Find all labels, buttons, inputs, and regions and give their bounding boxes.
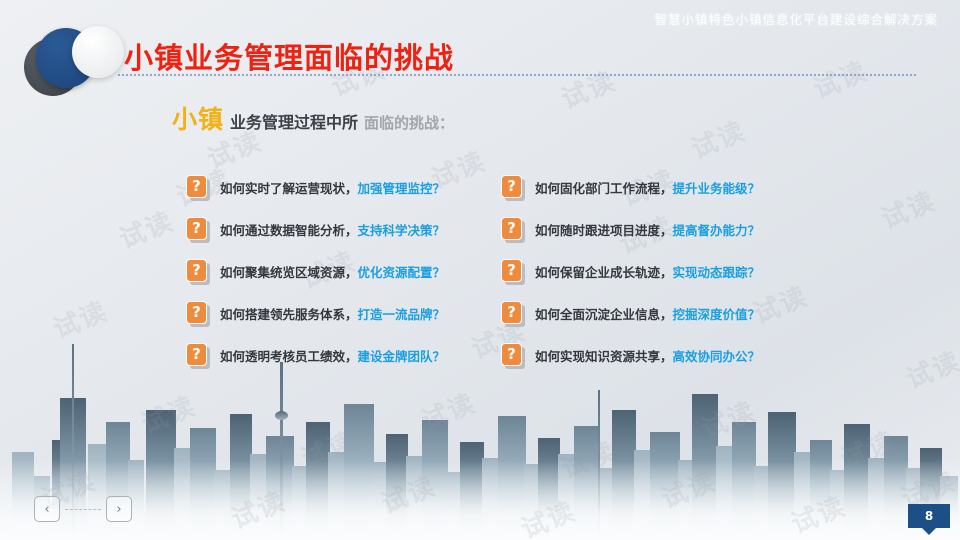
challenge-text: 如何实时了解运营现状，加强管理监控？ bbox=[220, 178, 445, 197]
question-icon-glyph: ? bbox=[186, 259, 207, 282]
subtitle-strong: 业务管理过程中所 bbox=[230, 109, 358, 133]
question-mark-icon: ? bbox=[501, 175, 523, 199]
challenge-text: 如何通过数据智能分析，支持科学决策？ bbox=[220, 220, 445, 239]
challenge-lead: 如何通过数据智能分析， bbox=[220, 223, 358, 238]
question-icon-glyph: ? bbox=[501, 259, 522, 282]
nav-connector bbox=[65, 509, 101, 510]
prev-slide-button[interactable]: ‹ bbox=[34, 496, 60, 522]
challenge-lead: 如何搭建领先服务体系， bbox=[220, 307, 358, 322]
challenge-highlight: 打造一流品牌？ bbox=[358, 307, 446, 322]
slide-navigation: ‹ › bbox=[34, 496, 132, 522]
challenge-highlight: 实现动态跟踪？ bbox=[673, 265, 761, 280]
challenge-text: 如何搭建领先服务体系，打造一流品牌？ bbox=[220, 304, 445, 323]
question-mark-icon: ? bbox=[186, 343, 208, 367]
logo-circle-white bbox=[72, 26, 124, 78]
challenge-lead: 如何固化部门工作流程， bbox=[535, 181, 673, 196]
challenge-lead: 如何实时了解运营现状， bbox=[220, 181, 358, 196]
challenge-highlight: 提高督办能力？ bbox=[673, 223, 761, 238]
challenge-item: ?如何固化部门工作流程，提升业务能级？ bbox=[501, 166, 806, 208]
challenge-lead: 如何随时跟进项目进度， bbox=[535, 223, 673, 238]
question-icon-glyph: ? bbox=[186, 343, 207, 366]
question-icon-glyph: ? bbox=[501, 343, 522, 366]
question-mark-icon: ? bbox=[186, 175, 208, 199]
page-number-badge: 8 bbox=[908, 504, 950, 528]
challenge-item: ?如何通过数据智能分析，支持科学决策？ bbox=[186, 208, 491, 250]
question-mark-icon: ? bbox=[501, 217, 523, 241]
challenge-highlight: 支持科学决策？ bbox=[358, 223, 446, 238]
challenge-text: 如何全面沉淀企业信息，挖掘深度价值？ bbox=[535, 304, 760, 323]
question-icon-glyph: ? bbox=[186, 217, 207, 240]
page-title: 小镇业务管理面临的挑战 bbox=[124, 35, 454, 77]
question-icon-glyph: ? bbox=[501, 217, 522, 240]
challenge-list: ?如何实时了解运营现状，加强管理监控？?如何固化部门工作流程，提升业务能级？?如… bbox=[186, 166, 806, 376]
question-icon-glyph: ? bbox=[501, 301, 522, 324]
challenge-text: 如何实现知识资源共享，高效协同办公？ bbox=[535, 346, 760, 365]
watermark-text: 试读 bbox=[555, 61, 621, 116]
next-slide-button[interactable]: › bbox=[106, 496, 132, 522]
challenge-lead: 如何全面沉淀企业信息， bbox=[535, 307, 673, 322]
challenge-lead: 如何实现知识资源共享， bbox=[535, 349, 673, 364]
challenge-item: ?如何实现知识资源共享，高效协同办公？ bbox=[501, 334, 806, 376]
question-mark-icon: ? bbox=[186, 217, 208, 241]
challenge-item: ?如何全面沉淀企业信息，挖掘深度价值？ bbox=[501, 292, 806, 334]
watermark-text: 试读 bbox=[875, 181, 941, 236]
subtitle-muted: 面临的挑战： bbox=[364, 112, 454, 133]
challenge-highlight: 加强管理监控？ bbox=[358, 181, 446, 196]
skyline-fade-overlay bbox=[0, 460, 960, 540]
question-icon-glyph: ? bbox=[186, 301, 207, 324]
logo-mark bbox=[18, 22, 128, 98]
watermark-text: 试读 bbox=[685, 111, 751, 166]
challenge-text: 如何透明考核员工绩效，建设金牌团队？ bbox=[220, 346, 445, 365]
subtitle-accent: 小镇 bbox=[172, 100, 224, 136]
challenge-text: 如何聚集统览区域资源，优化资源配置？ bbox=[220, 262, 445, 281]
challenge-text: 如何随时跟进项目进度，提高督办能力？ bbox=[535, 220, 760, 239]
challenge-lead: 如何透明考核员工绩效， bbox=[220, 349, 358, 364]
tv-tower-sphere bbox=[275, 411, 288, 420]
challenge-highlight: 高效协同办公？ bbox=[673, 349, 761, 364]
challenge-text: 如何保留企业成长轨迹，实现动态跟踪？ bbox=[535, 262, 760, 281]
challenge-item: ?如何搭建领先服务体系，打造一流品牌？ bbox=[186, 292, 491, 334]
question-mark-icon: ? bbox=[186, 259, 208, 283]
challenge-item: ?如何聚集统览区域资源，优化资源配置？ bbox=[186, 250, 491, 292]
challenge-text: 如何固化部门工作流程，提升业务能级？ bbox=[535, 178, 760, 197]
watermark-text: 试读 bbox=[807, 51, 873, 106]
slide-root: 试读试读试读试读试读试读试读试读试读试读试读试读试读试读试读试读试读试读试读试读… bbox=[0, 0, 960, 540]
watermark-text: 试读 bbox=[113, 201, 179, 256]
challenge-item: ?如何保留企业成长轨迹，实现动态跟踪？ bbox=[501, 250, 806, 292]
challenge-item: ?如何随时跟进项目进度，提高督办能力？ bbox=[501, 208, 806, 250]
challenge-highlight: 挖掘深度价值？ bbox=[673, 307, 761, 322]
challenge-highlight: 优化资源配置？ bbox=[358, 265, 446, 280]
question-mark-icon: ? bbox=[501, 259, 523, 283]
document-title: 智慧小镇特色小镇信息化平台建设综合解决方案 bbox=[654, 9, 938, 28]
subtitle: 小镇 业务管理过程中所 面临的挑战： bbox=[172, 100, 454, 136]
challenge-highlight: 建设金牌团队？ bbox=[358, 349, 446, 364]
question-icon-glyph: ? bbox=[186, 175, 207, 198]
watermark-text: 试读 bbox=[47, 291, 113, 346]
question-mark-icon: ? bbox=[186, 301, 208, 325]
question-mark-icon: ? bbox=[501, 301, 523, 325]
challenge-item: ?如何透明考核员工绩效，建设金牌团队？ bbox=[186, 334, 491, 376]
challenge-lead: 如何保留企业成长轨迹， bbox=[535, 265, 673, 280]
city-skyline-image bbox=[0, 350, 960, 540]
challenge-highlight: 提升业务能级？ bbox=[673, 181, 761, 196]
question-mark-icon: ? bbox=[501, 343, 523, 367]
challenge-item: ?如何实时了解运营现状，加强管理监控？ bbox=[186, 166, 491, 208]
challenge-lead: 如何聚集统览区域资源， bbox=[220, 265, 358, 280]
question-icon-glyph: ? bbox=[501, 175, 522, 198]
